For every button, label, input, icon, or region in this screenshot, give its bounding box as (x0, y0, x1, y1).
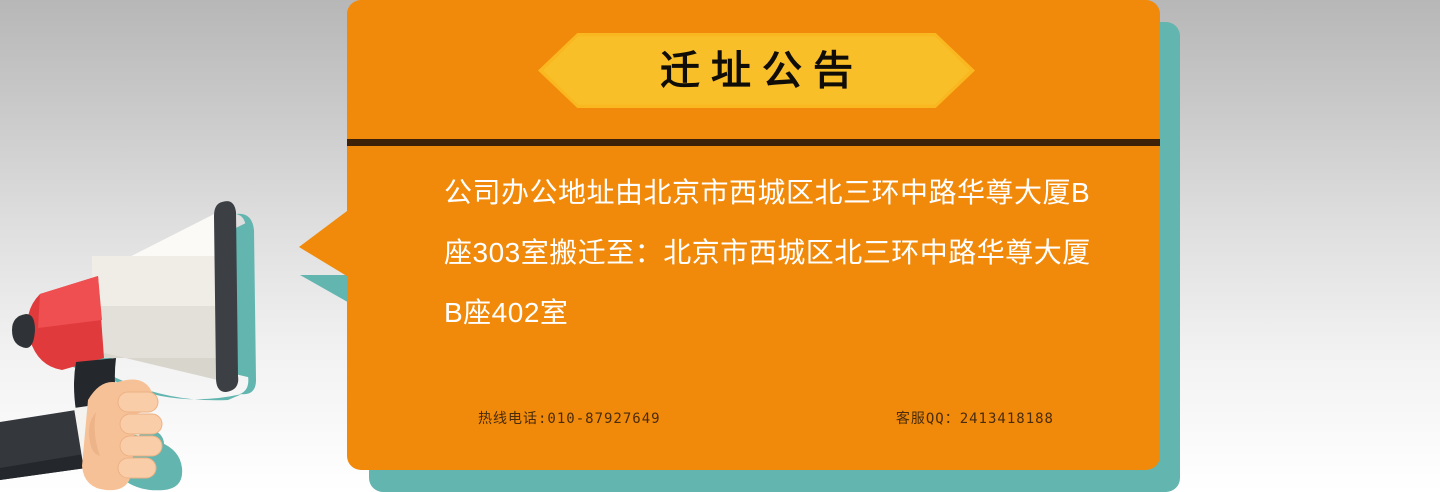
megaphone-cone (92, 208, 226, 382)
announcement-banner: 迁址公告 公司办公地址由北京市西城区北三环中路华尊大厦B座303室搬迁至：北京市… (0, 0, 1440, 492)
megaphone-rim (214, 201, 238, 392)
qq-text: 客服QQ：2413418188 (896, 408, 1054, 428)
megaphone-illustration (0, 186, 330, 492)
header-divider (347, 139, 1160, 146)
title-banner: 迁址公告 (538, 33, 975, 108)
hotline-text: 热线电话:010-87927649 (478, 408, 661, 428)
announcement-body: 公司办公地址由北京市西城区北三环中路华尊大厦B座303室搬迁至：北京市西城区北三… (444, 163, 1092, 343)
contact-footer: 热线电话:010-87927649 客服QQ：2413418188 (444, 408, 1092, 428)
megaphone-body-red (12, 276, 104, 370)
announcement-title: 迁址公告 (538, 33, 975, 108)
